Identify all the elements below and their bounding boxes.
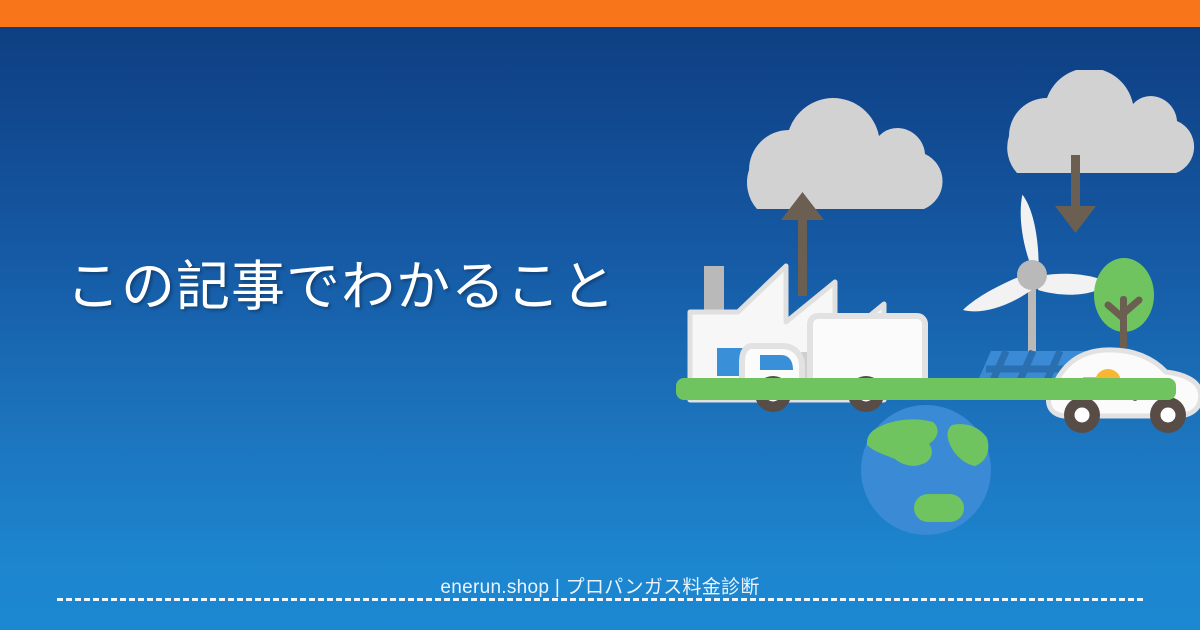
wind-turbine-icon <box>963 193 1109 373</box>
cloud-absorb-down-icon <box>1007 70 1194 233</box>
ground-bar <box>676 378 1176 400</box>
globe-icon <box>861 405 991 535</box>
cloud-emission-up-icon <box>747 98 943 296</box>
top-accent-bar <box>0 0 1200 27</box>
tree-icon <box>1094 258 1154 349</box>
eco-energy-illustration <box>650 70 1200 550</box>
slide-canvas: この記事でわかること <box>0 0 1200 630</box>
footer-divider <box>57 598 1143 601</box>
footer: enerun.shop | プロパンガス料金診断 <box>0 572 1200 599</box>
footer-label: enerun.shop | プロパンガス料金診断 <box>430 572 769 599</box>
page-title: この記事でわかること <box>66 254 626 322</box>
